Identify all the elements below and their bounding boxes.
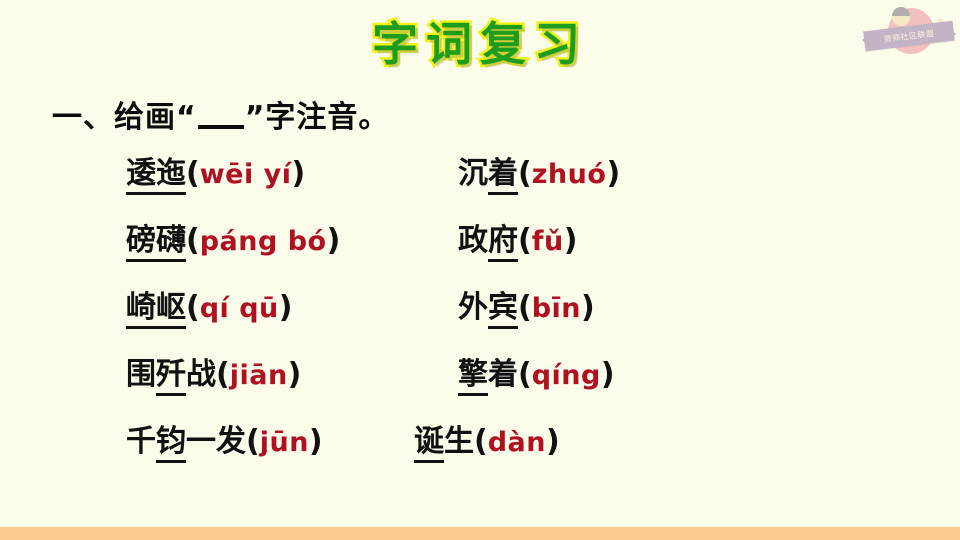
word-entry-weijianzhan: 围歼战( jiān ) [126,353,301,398]
word-prefix: 沉 [458,156,488,191]
underlined-character: 擎 [458,357,488,396]
title-container: 字词复习 [0,8,960,74]
word-entry-chenzhuo: 沉着( zhuó ) [458,152,620,197]
word-entry-pangbo: 磅礴(páng bó) [126,219,340,264]
pinyin-answer: páng bó [200,226,327,257]
word-list: 逶迤( wēi yí ) 沉着( zhuó ) 磅礴(páng bó) 政府( … [126,152,886,487]
word-entry-qiqu: 崎岖( qí qū ) [126,286,292,331]
open-paren: ( [186,156,200,191]
pinyin-answer: qí qū [200,293,279,324]
close-paren: ) [327,223,341,258]
underlined-character: 逶迤 [126,156,186,195]
exercise-heading: 一、给画“”字注音。 [52,92,389,136]
word-text: 诞生 [414,424,474,463]
close-paren: ) [279,290,293,325]
word-text: 千钧一发 [126,424,246,463]
word-suffix: 战 [186,357,216,392]
word-entry-dansheng: 诞生( dàn ) [414,420,560,465]
word-entry-qianjunyifa: 千钧一发( jūn ) [126,420,323,465]
word-text: 政府 [458,223,518,262]
close-paren: ) [581,290,595,325]
word-prefix: 外 [458,290,488,325]
open-paren: ( [518,156,532,191]
word-prefix: 政 [458,223,488,258]
open-paren: ( [474,424,488,459]
close-paren: ) [564,223,578,258]
word-entry-weiyi: 逶迤( wēi yí ) [126,152,305,197]
bottom-accent-bar [0,527,960,540]
word-text: 沉着 [458,156,518,195]
open-paren: ( [246,424,260,459]
open-paren: ( [186,223,200,258]
close-paren: ) [546,424,560,459]
pinyin-answer: fǔ [532,226,564,257]
underlined-character: 磅礴 [126,223,186,262]
close-paren: ) [309,424,323,459]
pinyin-answer: bīn [532,293,581,324]
word-row: 千钧一发( jūn ) 诞生( dàn ) [126,420,886,487]
open-paren: ( [518,223,532,258]
pinyin-answer: jiān [230,360,288,391]
word-suffix: 着 [488,357,518,392]
word-row: 逶迤( wēi yí ) 沉着( zhuó ) [126,152,886,219]
word-row: 崎岖( qí qū ) 外宾( bīn ) [126,286,886,353]
open-paren: ( [216,357,230,392]
word-text: 逶迤 [126,156,186,195]
word-text: 磅礴 [126,223,186,262]
word-entry-zhengfu: 政府( fǔ ) [458,219,577,264]
close-paren: ) [288,357,302,392]
word-text: 擎着 [458,357,518,396]
word-suffix: 一发 [186,424,246,459]
word-text: 外宾 [458,290,518,329]
word-row: 磅礴(páng bó) 政府( fǔ ) [126,219,886,286]
heading-prefix: 一、给画“ [52,100,197,135]
word-entry-waibin: 外宾( bīn ) [458,286,595,331]
pinyin-answer: jūn [260,427,309,458]
underlined-character: 诞 [414,424,444,463]
word-suffix: 生 [444,424,474,459]
heading-suffix: ”字注音。 [245,100,390,135]
open-paren: ( [518,290,532,325]
underlined-character: 府 [488,223,518,262]
underlined-character: 钧 [156,424,186,463]
underlined-character: 着 [488,156,518,195]
word-text: 崎岖 [126,290,186,329]
word-row: 围歼战( jiān ) 擎着( qíng ) [126,353,886,420]
slide-canvas: 资师社区联盟 字词复习 一、给画“”字注音。 逶迤( wēi yí ) 沉着( … [0,0,960,540]
pinyin-answer: qíng [532,360,601,391]
underlined-character: 崎岖 [126,290,186,329]
word-prefix: 围 [126,357,156,392]
close-paren: ) [601,357,615,392]
open-paren: ( [186,290,200,325]
close-paren: ) [291,156,305,191]
word-text: 围歼战 [126,357,216,396]
word-prefix: 千 [126,424,156,459]
heading-blank-line [198,125,244,129]
pinyin-answer: dàn [488,427,546,458]
open-paren: ( [518,357,532,392]
underlined-character: 歼 [156,357,186,396]
close-paren: ) [606,156,620,191]
underlined-character: 宾 [488,290,518,329]
page-title: 字词复习 [372,8,588,74]
pinyin-answer: zhuó [532,159,607,190]
word-entry-qingzhe: 擎着( qíng ) [458,353,615,398]
pinyin-answer: wēi yí [200,159,292,190]
